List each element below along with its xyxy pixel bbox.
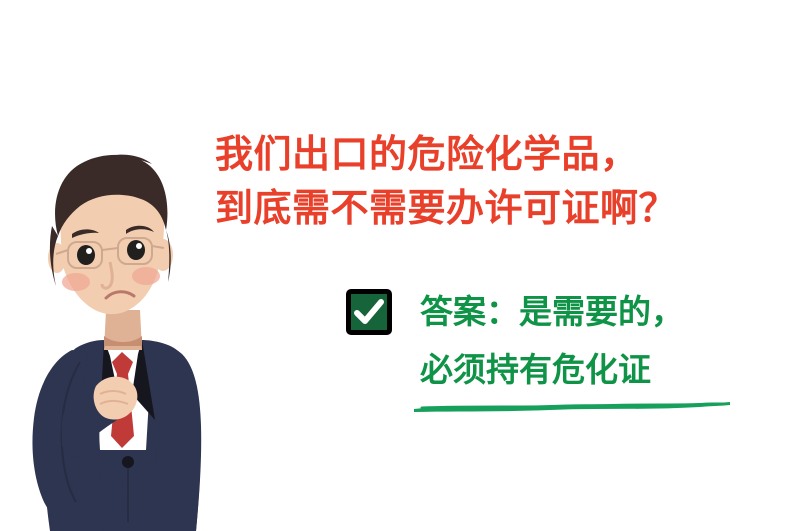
answer-block: 答案：是需要的， 必须持有危化证: [346, 286, 746, 396]
thinking-businessman-illustration: [0, 150, 250, 531]
eye-right-highlight: [136, 243, 142, 249]
headline: 我们出口的危险化学品， 到底需不需要办许可证啊？: [215, 128, 685, 236]
poster-canvas: 我们出口的危险化学品， 到底需不需要办许可证啊？ 答案：是需要的， 必须持有危化…: [0, 0, 800, 531]
answer-line-2: 必须持有危化证: [420, 344, 746, 396]
eye-left-highlight: [86, 248, 92, 254]
suit-button: [122, 456, 134, 468]
checkbox-checked-icon: [346, 289, 392, 335]
brush-underline: [412, 400, 732, 414]
answer-row-first: 答案：是需要的，: [346, 286, 746, 338]
cheek-left: [62, 273, 90, 291]
headline-line-2: 到底需不需要办许可证啊？: [215, 182, 685, 236]
eye-left: [77, 245, 95, 265]
answer-line-1: 答案：是需要的，: [420, 286, 684, 338]
eye-right: [127, 240, 145, 260]
cheek-right: [132, 267, 160, 285]
headline-line-1: 我们出口的危险化学品，: [215, 128, 685, 182]
